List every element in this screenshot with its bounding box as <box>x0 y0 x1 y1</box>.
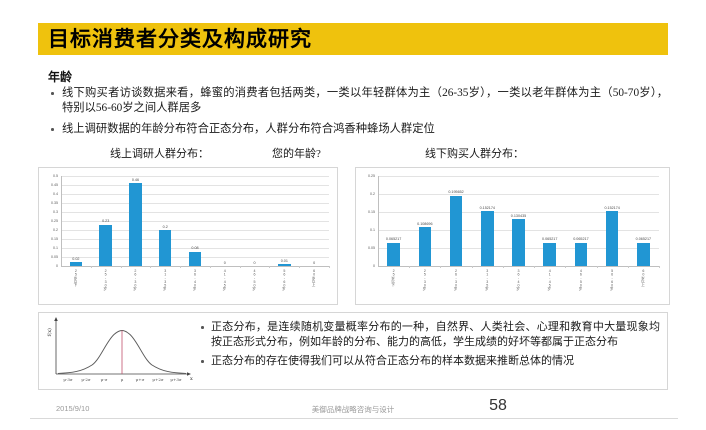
x-axis-tick-mark <box>597 266 598 268</box>
x-axis-tick-label: 36-40岁 <box>517 269 522 290</box>
bar-value-label: 0.152174 <box>467 206 507 210</box>
x-axis-tick-label: 56-60岁 <box>610 269 615 290</box>
x-axis-tick-mark <box>659 266 660 268</box>
bar-value-label: 0.08 <box>175 246 215 250</box>
chart-online-age-distribution: 00.050.10.150.20.250.30.350.40.450.50.02… <box>38 167 338 305</box>
y-axis-tick-label: 0.05 <box>356 246 375 250</box>
svg-text:μ+2σ: μ+2σ <box>152 377 163 382</box>
x-axis-tick-label: 41-45岁 <box>548 269 553 290</box>
y-axis-tick-label: 0.3 <box>39 210 58 214</box>
gridline <box>61 194 329 195</box>
page-number: 58 <box>468 397 528 415</box>
x-axis-tick-label: 25-30岁 <box>104 269 109 290</box>
bar <box>99 225 112 266</box>
x-axis-tick-mark <box>329 266 330 268</box>
normal-distribution-curve: f(x) x μ-3σ μ-2σ μ-σ μ μ+σ μ+2σ μ+3σ <box>42 314 194 388</box>
y-axis-tick-label: 0.25 <box>356 174 375 178</box>
x-axis-tick-mark <box>409 266 410 268</box>
bar-value-label: 0.152174 <box>592 206 632 210</box>
x-axis-tick-label: 25-30岁 <box>423 269 428 290</box>
footer-divider <box>30 418 678 419</box>
bar-value-label: 0.46 <box>115 178 155 182</box>
y-axis-tick-label: 0.2 <box>356 192 375 196</box>
x-axis-tick-mark <box>472 266 473 268</box>
chart-offline-age-distribution: 00.050.10.150.20.250.06521725岁以下0.108696… <box>355 167 670 305</box>
list-item: 正态分布的存在使得我们可以从符合正态分布的样本数据来推断总体的情况 <box>198 354 660 369</box>
y-axis-tick-label: 0.2 <box>39 228 58 232</box>
bar-value-label: 0.130435 <box>499 214 539 218</box>
y-axis-tick-label: 0 <box>356 264 375 268</box>
bar-value-label: 0.02 <box>56 257 96 261</box>
x-axis-tick-mark <box>440 266 441 268</box>
bar <box>278 264 291 266</box>
gridline <box>61 185 329 186</box>
x-axis-tick-label: 26-30岁 <box>454 269 459 290</box>
x-axis-tick-label: 25岁以下 <box>74 269 79 286</box>
y-axis-tick-label: 0.5 <box>39 174 58 178</box>
page-title: 目标消费者分类及构成研究 <box>38 29 312 50</box>
x-axis-tick-label: 36-40岁 <box>193 269 198 290</box>
bar-value-label: 0 <box>294 261 334 265</box>
x-axis-tick-label: 56-60岁 <box>282 269 287 290</box>
bar <box>450 196 462 266</box>
plot-area-left: 00.050.10.150.20.250.30.350.40.450.50.02… <box>39 168 337 304</box>
list-item: 线上调研数据的年龄分布符合正态分布，人群分布符合鸿香种蜂场人群定位 <box>48 122 668 137</box>
list-item: 线下购买者访谈数据来看，蜂蜜的消费者包括两类，一类以年轻群体为主（26-35岁）… <box>48 86 668 116</box>
y-axis-tick-label: 0.35 <box>39 201 58 205</box>
x-axis-tick-label: 26-30岁 <box>133 269 138 290</box>
x-axis-line <box>61 266 329 267</box>
bar-value-label: 0.23 <box>86 219 126 223</box>
bar <box>606 211 618 266</box>
caption-offline-distribution: 线下购买人群分布： <box>425 145 524 161</box>
x-axis-tick-label: 60岁以上 <box>641 269 646 286</box>
x-axis-tick-mark <box>299 266 300 268</box>
x-axis-tick-label: 46-50岁 <box>253 269 258 290</box>
svg-text:μ+3σ: μ+3σ <box>170 377 181 382</box>
bar-value-label: 0.2 <box>145 225 185 229</box>
x-axis-tick-mark <box>503 266 504 268</box>
plot-area-right: 00.050.10.150.20.250.06521725岁以下0.108696… <box>356 168 669 304</box>
gridline <box>61 176 329 177</box>
y-axis-tick-label: 0.15 <box>39 237 58 241</box>
svg-text:x: x <box>190 376 193 382</box>
section-heading: 年龄 <box>48 68 72 85</box>
x-axis-tick-label: 31-35岁 <box>163 269 168 290</box>
x-axis-line <box>378 266 659 267</box>
svg-text:μ-2σ: μ-2σ <box>81 377 90 382</box>
x-axis-tick-mark <box>534 266 535 268</box>
bar-value-label: 0.065217 <box>623 237 663 241</box>
gridline <box>61 212 329 213</box>
normal-distribution-bullets: 正态分布，是连续随机变量概率分布的一种，自然界、人类社会、心理和教育中大量现象均… <box>198 320 660 374</box>
caption-age-question: 您的年龄? <box>272 145 321 161</box>
bar-value-label: 0.065217 <box>561 237 601 241</box>
x-axis-tick-label: 31-35岁 <box>485 269 490 290</box>
x-axis-tick-mark <box>121 266 122 268</box>
x-axis-tick-mark <box>91 266 92 268</box>
svg-text:f(x): f(x) <box>46 328 53 337</box>
bar <box>159 230 172 266</box>
y-axis-line <box>378 176 379 266</box>
bar <box>481 211 493 266</box>
bar <box>129 183 142 266</box>
bar-value-label: 0.065217 <box>374 237 414 241</box>
footer-company: 美御品牌战略咨询与设计 <box>0 404 706 415</box>
x-axis-tick-label: 60岁以上 <box>312 269 317 286</box>
svg-text:μ-σ: μ-σ <box>101 377 108 382</box>
bar-value-label: 0.195652 <box>436 190 476 194</box>
list-item: 正态分布，是连续随机变量概率分布的一种，自然界、人类社会、心理和教育中大量现象均… <box>198 320 660 349</box>
y-axis-tick-label: 0.25 <box>39 219 58 223</box>
svg-text:μ-3σ: μ-3σ <box>63 377 72 382</box>
x-axis-tick-mark <box>269 266 270 268</box>
bar <box>70 262 83 266</box>
bar <box>543 243 555 266</box>
title-banner: 目标消费者分类及构成研究 <box>38 23 668 55</box>
svg-text:μ: μ <box>121 377 124 382</box>
gridline <box>378 176 659 177</box>
slide-canvas: 目标消费者分类及构成研究 年龄 线下购买者访谈数据来看，蜂蜜的消费者包括两类，一… <box>0 0 706 430</box>
x-axis-tick-mark <box>150 266 151 268</box>
bar <box>419 227 431 266</box>
bar-value-label: 0.108696 <box>405 222 445 226</box>
bell-curve-svg: f(x) x μ-3σ μ-2σ μ-σ μ μ+σ μ+2σ μ+3σ <box>42 314 194 388</box>
bullet-list: 线下购买者访谈数据来看，蜂蜜的消费者包括两类，一类以年轻群体为主（26-35岁）… <box>48 86 668 143</box>
y-axis-tick-label: 0.1 <box>356 228 375 232</box>
gridline <box>61 203 329 204</box>
x-axis-tick-label: 41-45岁 <box>223 269 228 290</box>
y-axis-tick-label: 0.15 <box>356 210 375 214</box>
bar <box>189 252 202 266</box>
bar <box>387 243 399 266</box>
x-axis-tick-label: 25岁以下 <box>392 269 397 286</box>
y-axis-tick-label: 0.1 <box>39 246 58 250</box>
x-axis-tick-mark <box>180 266 181 268</box>
bar <box>637 243 649 266</box>
gridline <box>378 194 659 195</box>
y-axis-tick-label: 0.45 <box>39 183 58 187</box>
x-axis-tick-mark <box>240 266 241 268</box>
y-axis-tick-label: 0 <box>39 264 58 268</box>
x-axis-tick-mark <box>628 266 629 268</box>
svg-text:μ+σ: μ+σ <box>136 377 145 382</box>
x-axis-tick-label: 46-50岁 <box>579 269 584 290</box>
y-axis-line <box>61 176 62 266</box>
bar <box>512 219 524 266</box>
bar <box>575 243 587 266</box>
x-axis-tick-mark <box>210 266 211 268</box>
x-axis-tick-mark <box>565 266 566 268</box>
y-axis-tick-label: 0.4 <box>39 192 58 196</box>
caption-online-distribution: 线上调研人群分布： <box>110 145 209 161</box>
